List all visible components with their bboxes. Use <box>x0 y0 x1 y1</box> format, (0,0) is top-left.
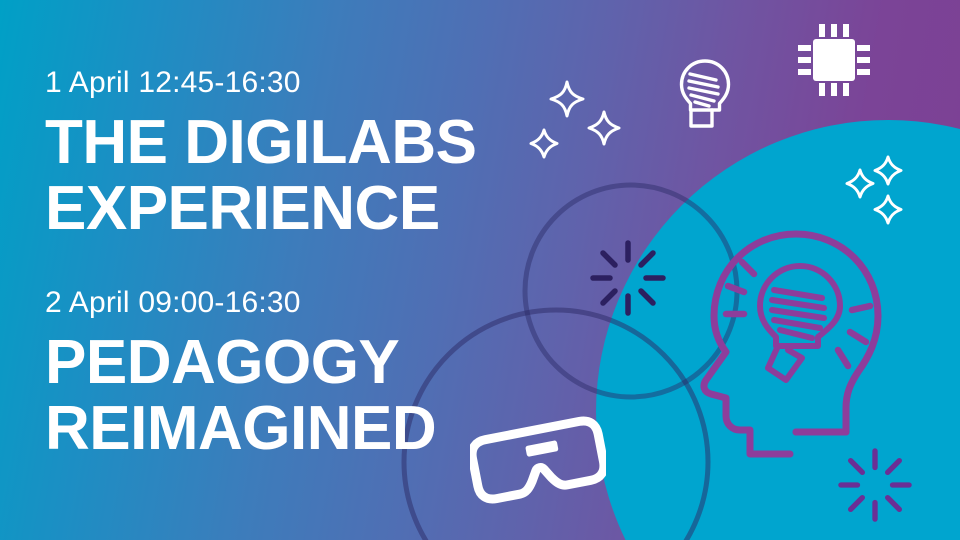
sparkle-star-icon <box>549 80 585 118</box>
sparkle-star-icon <box>873 194 903 225</box>
promotional-banner: 1 April 12:45-16:30 THE DIGILABS EXPERIE… <box>0 0 960 540</box>
session-2-title-line-1: PEDAGOGY <box>45 328 399 397</box>
vr-headset-icon <box>470 404 606 516</box>
session-1-datetime: 1 April 12:45-16:30 <box>45 68 476 98</box>
session-2-title-line-2: REIMAGINED <box>45 396 436 462</box>
head-profile-lightbulb-icon <box>692 228 902 468</box>
session-2-title: PEDAGOGY REIMAGINED <box>45 330 436 461</box>
session-2-datetime: 2 April 09:00-16:30 <box>45 288 436 318</box>
starburst-icon <box>590 240 666 316</box>
sparkle-star-icon <box>587 110 621 146</box>
sparkle-star-icon <box>873 155 903 186</box>
lightbulb-icon <box>676 58 734 132</box>
sparkle-star-icon <box>529 128 559 159</box>
session-1-title-line-1: THE DIGILABS <box>45 108 476 177</box>
session-1-text: 1 April 12:45-16:30 THE DIGILABS EXPERIE… <box>45 68 476 241</box>
session-1-title: THE DIGILABS EXPERIENCE <box>45 110 476 241</box>
sparkle-star-icon <box>845 168 875 199</box>
session-1-title-line-2: EXPERIENCE <box>45 176 476 242</box>
starburst-icon <box>838 448 912 522</box>
cpu-chip-icon <box>796 22 872 98</box>
session-2-text: 2 April 09:00-16:30 PEDAGOGY REIMAGINED <box>45 288 436 461</box>
